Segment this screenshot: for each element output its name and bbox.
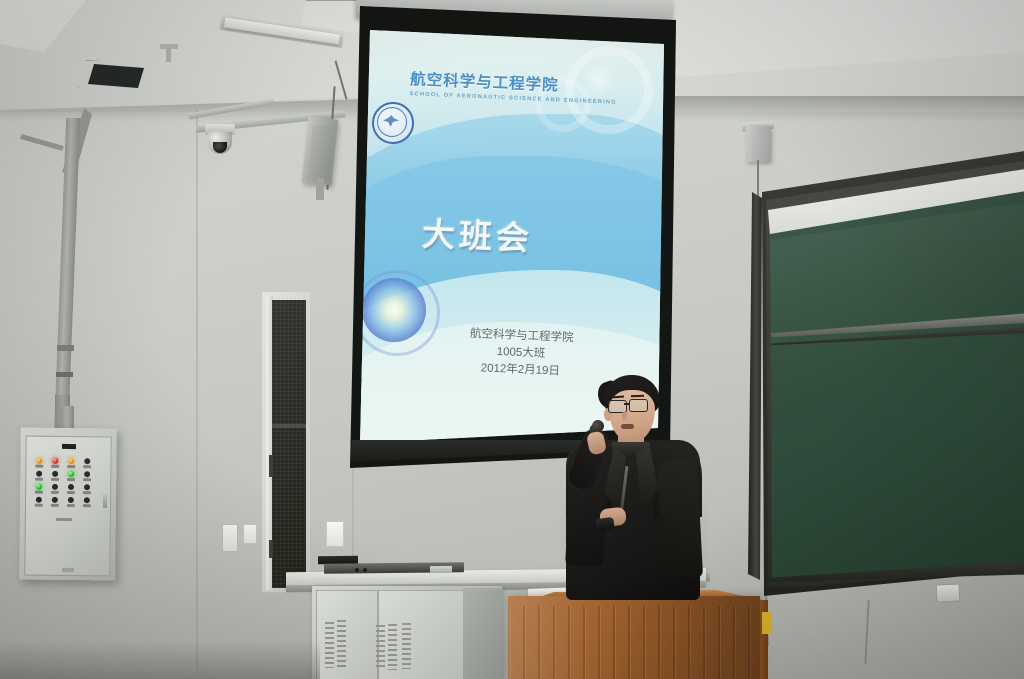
lecture-hall-scene: 航空科学与工程学院 SCHOOL OF AERONAUTIC SCIENCE A…	[0, 0, 1024, 679]
panel-led-label-15	[67, 504, 75, 507]
window-hinge-upper	[269, 455, 273, 477]
cabinet-side-panel	[463, 588, 503, 679]
panel-led-label-16	[83, 504, 91, 507]
control-panel-lock-icon[interactable]	[62, 568, 74, 572]
panel-led-13-off	[36, 497, 42, 503]
control-panel-text-strip	[56, 518, 72, 521]
panel-led-label-13	[35, 504, 43, 507]
conduit-joint-lower	[56, 372, 73, 377]
desk-knob-right[interactable]	[363, 568, 367, 572]
light-switch-plate[interactable]	[243, 524, 257, 544]
wall-notice-sign	[222, 524, 238, 552]
wall-seam	[196, 110, 198, 670]
panel-led-15-off	[68, 497, 74, 503]
panel-led-label-2	[51, 465, 59, 468]
panel-led-label-8	[83, 478, 91, 481]
wall-speaker-box-icon	[746, 126, 770, 162]
panel-led-label-3	[67, 465, 75, 468]
panel-led-8-off	[84, 471, 90, 477]
yellow-tape-marker	[762, 612, 772, 634]
slide-subtitle: 航空科学与工程学院 1005大班 2012年2月19日	[425, 324, 617, 383]
floor-shadow	[0, 640, 320, 679]
presenter-mouth	[621, 424, 634, 429]
panel-led-label-7	[67, 478, 75, 481]
conduit-joint	[57, 345, 74, 351]
panel-led-3-amber	[68, 458, 74, 464]
light-mount-stem	[166, 48, 171, 62]
presenter-nose	[622, 412, 627, 420]
panel-led-12-off	[84, 484, 90, 490]
glasses-lens-right-icon	[629, 399, 648, 412]
panel-led-label-12	[83, 491, 91, 494]
panel-led-label-5	[35, 478, 43, 481]
panel-led-14-off	[52, 497, 58, 503]
panel-led-label-4	[83, 465, 91, 468]
panel-led-10-off	[52, 484, 58, 490]
cabinet-vent-5	[402, 623, 411, 669]
wall-outlet-icon[interactable]	[936, 584, 961, 603]
panel-led-4-off	[84, 458, 90, 464]
ceiling-vent-opening	[88, 64, 144, 88]
lectern-shading	[508, 596, 760, 679]
panel-led-label-10	[51, 491, 59, 494]
panel-led-16-off	[84, 497, 90, 503]
panel-led-label-11	[67, 491, 75, 494]
cabinet-vent-2	[337, 620, 346, 668]
control-panel-led-grid	[36, 458, 99, 515]
panel-led-5-off	[36, 471, 42, 477]
speaker-box-cable	[757, 160, 759, 200]
panel-led-9-green	[36, 484, 42, 490]
desk-equipment-small[interactable]	[430, 566, 452, 573]
panel-led-1-amber	[36, 458, 42, 464]
panel-led-7-green	[68, 471, 74, 477]
presenter-arm-right	[657, 459, 703, 579]
cabinet-vent-4	[388, 624, 397, 670]
yellow-wall-marker	[326, 521, 344, 547]
speaker-mount	[316, 178, 324, 200]
desk-knob-left[interactable]	[355, 568, 359, 572]
window-mullion	[272, 424, 306, 428]
control-panel-hinge	[103, 494, 107, 508]
window-hinge-lower	[269, 540, 273, 558]
panel-led-label-1	[35, 465, 43, 468]
panel-led-6-off	[52, 471, 58, 477]
panel-led-11-off	[68, 484, 74, 490]
panel-led-label-6	[51, 478, 59, 481]
panel-led-label-9	[35, 491, 43, 494]
slide-title: 大班会	[421, 207, 603, 262]
cabinet-vent-3	[376, 625, 385, 669]
window-screen-mesh	[272, 300, 306, 588]
cabinet-vent-1	[325, 622, 334, 668]
control-panel-label-plate	[62, 444, 76, 449]
panel-led-label-14	[51, 504, 59, 507]
slide-glow-orb	[362, 278, 426, 342]
glasses-bridge-icon	[624, 403, 630, 405]
panel-led-2-red	[52, 458, 58, 464]
